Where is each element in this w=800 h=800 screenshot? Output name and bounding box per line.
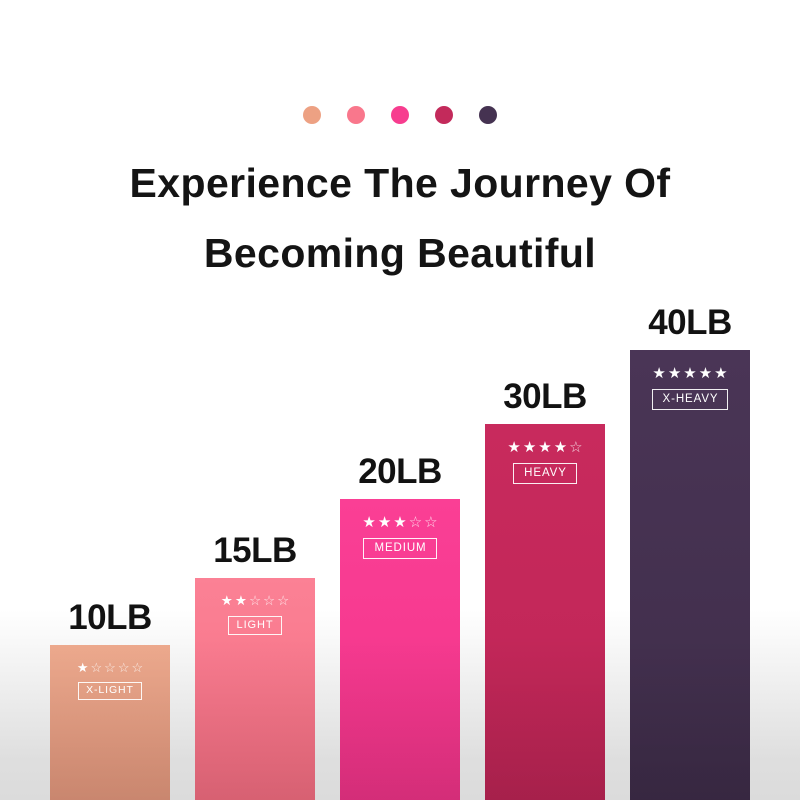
star-empty-icon: ☆: [409, 515, 422, 530]
star-filled-icon: ★: [523, 440, 536, 455]
star-filled-icon: ★: [362, 515, 375, 530]
bar-rect[interactable]: ★★★☆☆MEDIUM: [340, 499, 460, 800]
page-title-line-1: Experience The Journey Of: [0, 148, 800, 218]
dot-peach-icon: [303, 106, 321, 124]
bar-bottom-shade: [630, 635, 750, 800]
strength-badge: LIGHT: [228, 616, 283, 635]
star-filled-icon: ★: [683, 366, 696, 381]
bar-content: ★★★★☆HEAVY: [485, 440, 605, 484]
dot-crimson-icon: [435, 106, 453, 124]
star-rating: ★★★★☆: [507, 440, 582, 455]
bar-rect[interactable]: ★★★★★X-HEAVY: [630, 350, 750, 800]
bar-weight-label: 10LB: [50, 600, 170, 635]
star-filled-icon: ★: [235, 594, 247, 608]
page-title: Experience The Journey Of Becoming Beaut…: [0, 148, 800, 288]
bar-content: ★★★☆☆MEDIUM: [340, 515, 460, 559]
bar-content: ★☆☆☆☆X-LIGHT: [50, 661, 170, 700]
star-filled-icon: ★: [507, 440, 520, 455]
star-filled-icon: ★: [652, 366, 665, 381]
star-empty-icon: ☆: [118, 661, 130, 674]
strength-badge: MEDIUM: [363, 538, 436, 559]
star-empty-icon: ☆: [277, 594, 289, 608]
star-rating: ★★☆☆☆: [221, 594, 290, 608]
star-filled-icon: ★: [221, 594, 233, 608]
dot-row: [0, 106, 800, 124]
bar-group-30lb[interactable]: 30LB★★★★☆HEAVY: [485, 372, 605, 800]
star-empty-icon: ☆: [91, 661, 103, 674]
strength-badge: HEAVY: [513, 463, 577, 484]
bar-weight-label: 40LB: [630, 305, 750, 340]
star-filled-icon: ★: [77, 661, 89, 674]
star-filled-icon: ★: [699, 366, 712, 381]
bar-rect[interactable]: ★☆☆☆☆X-LIGHT: [50, 645, 170, 800]
bar-group-15lb[interactable]: 15LB★★☆☆☆LIGHT: [195, 526, 315, 800]
page-title-line-2: Becoming Beautiful: [0, 218, 800, 288]
star-filled-icon: ★: [538, 440, 551, 455]
dot-purple-icon: [479, 106, 497, 124]
bar-weight-label: 30LB: [485, 379, 605, 414]
star-filled-icon: ★: [668, 366, 681, 381]
bar-rect[interactable]: ★★☆☆☆LIGHT: [195, 578, 315, 800]
star-empty-icon: ☆: [263, 594, 275, 608]
bar-bottom-shade: [195, 635, 315, 800]
dot-pink-icon: [391, 106, 409, 124]
dot-salmon-icon: [347, 106, 365, 124]
star-rating: ★★★☆☆: [362, 515, 437, 530]
bar-bottom-shade: [485, 635, 605, 800]
star-empty-icon: ☆: [569, 440, 582, 455]
bar-group-20lb[interactable]: 20LB★★★☆☆MEDIUM: [340, 447, 460, 800]
star-empty-icon: ☆: [104, 661, 116, 674]
strength-badge: X-LIGHT: [78, 682, 142, 700]
star-filled-icon: ★: [378, 515, 391, 530]
star-rating: ★★★★★: [652, 366, 727, 381]
star-filled-icon: ★: [393, 515, 406, 530]
bar-content: ★★☆☆☆LIGHT: [195, 594, 315, 635]
bar-group-10lb[interactable]: 10LB★☆☆☆☆X-LIGHT: [50, 593, 170, 800]
star-filled-icon: ★: [554, 440, 567, 455]
star-empty-icon: ☆: [131, 661, 143, 674]
bar-bottom-shade: [340, 635, 460, 800]
bar-content: ★★★★★X-HEAVY: [630, 366, 750, 410]
bar-weight-label: 20LB: [340, 454, 460, 489]
star-empty-icon: ☆: [249, 594, 261, 608]
bar-rect[interactable]: ★★★★☆HEAVY: [485, 424, 605, 800]
bar-weight-label: 15LB: [195, 533, 315, 568]
strength-badge: X-HEAVY: [652, 389, 729, 410]
star-rating: ★☆☆☆☆: [77, 661, 143, 674]
star-filled-icon: ★: [714, 366, 727, 381]
star-empty-icon: ☆: [424, 515, 437, 530]
bar-group-40lb[interactable]: 40LB★★★★★X-HEAVY: [630, 298, 750, 800]
